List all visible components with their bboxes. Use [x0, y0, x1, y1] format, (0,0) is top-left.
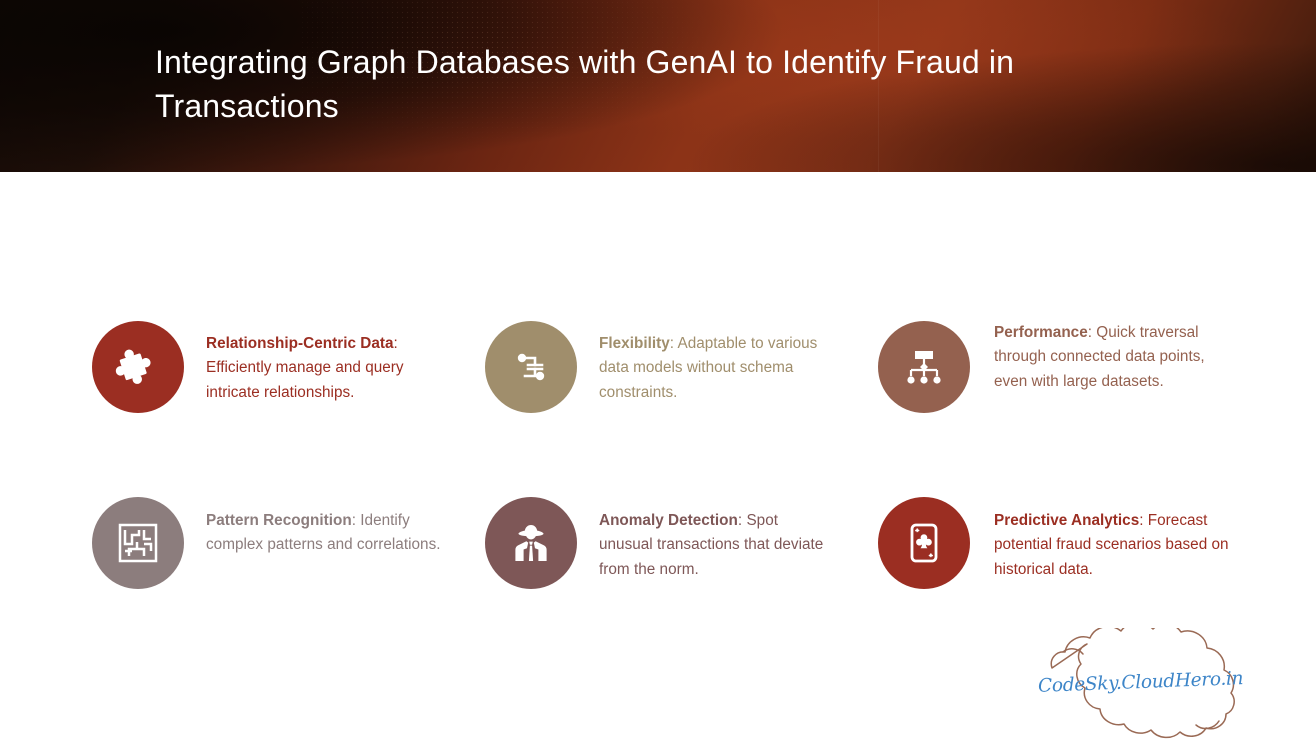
- card-text-flexibility: Flexibility: Adaptable to various data m…: [599, 332, 831, 405]
- icon-circle-anomaly-detection: [485, 497, 577, 589]
- feature-card-pattern-recognition[interactable]: Pattern Recognition: Identify complex pa…: [92, 497, 444, 589]
- card-label: Anomaly Detection: [599, 512, 738, 529]
- card-text-predictive-analytics: Predictive Analytics: Forecast potential…: [994, 509, 1239, 582]
- icon-circle-performance: [878, 321, 970, 413]
- icon-circle-predictive-analytics: [878, 497, 970, 589]
- feature-cards-grid: Relationship-Centric Data: Efficiently m…: [0, 172, 1316, 739]
- detective-person-icon: [507, 519, 555, 567]
- maze-labyrinth-icon: [115, 520, 161, 566]
- icon-circle-relationship-centric-data: [92, 321, 184, 413]
- card-label: Flexibility: [599, 335, 670, 352]
- card-text-performance: Performance: Quick traversal through con…: [994, 321, 1239, 394]
- playing-card-club-icon: [901, 520, 947, 566]
- card-separator: :: [352, 512, 361, 529]
- card-separator: :: [1139, 512, 1148, 529]
- card-label: Relationship-Centric Data: [206, 335, 394, 352]
- card-text-anomaly-detection: Anomaly Detection: Spot unusual transact…: [599, 509, 831, 582]
- feature-card-performance[interactable]: Performance: Quick traversal through con…: [878, 321, 1239, 413]
- card-label: Pattern Recognition: [206, 512, 352, 529]
- hierarchy-chart-icon: [900, 343, 948, 391]
- card-separator: :: [394, 335, 398, 352]
- feature-card-flexibility[interactable]: Flexibility: Adaptable to various data m…: [485, 321, 831, 413]
- icon-circle-pattern-recognition: [92, 497, 184, 589]
- card-text-pattern-recognition: Pattern Recognition: Identify complex pa…: [206, 509, 444, 558]
- card-label: Performance: [994, 324, 1088, 341]
- card-text-relationship-centric-data: Relationship-Centric Data: Efficiently m…: [206, 332, 444, 405]
- card-separator: :: [1088, 324, 1097, 341]
- puzzle-piece-icon: [112, 341, 164, 393]
- card-label: Predictive Analytics: [994, 512, 1139, 529]
- feature-card-predictive-analytics[interactable]: Predictive Analytics: Forecast potential…: [878, 497, 1239, 589]
- card-description: Efficiently manage and query intricate r…: [206, 359, 404, 400]
- feature-card-relationship-centric-data[interactable]: Relationship-Centric Data: Efficiently m…: [92, 321, 444, 413]
- header-banner: Integrating Graph Databases with GenAI t…: [0, 0, 1316, 172]
- icon-circle-flexibility: [485, 321, 577, 413]
- feature-card-anomaly-detection[interactable]: Anomaly Detection: Spot unusual transact…: [485, 497, 831, 589]
- page-title: Integrating Graph Databases with GenAI t…: [155, 40, 1115, 128]
- node-link-flow-icon: [509, 345, 553, 389]
